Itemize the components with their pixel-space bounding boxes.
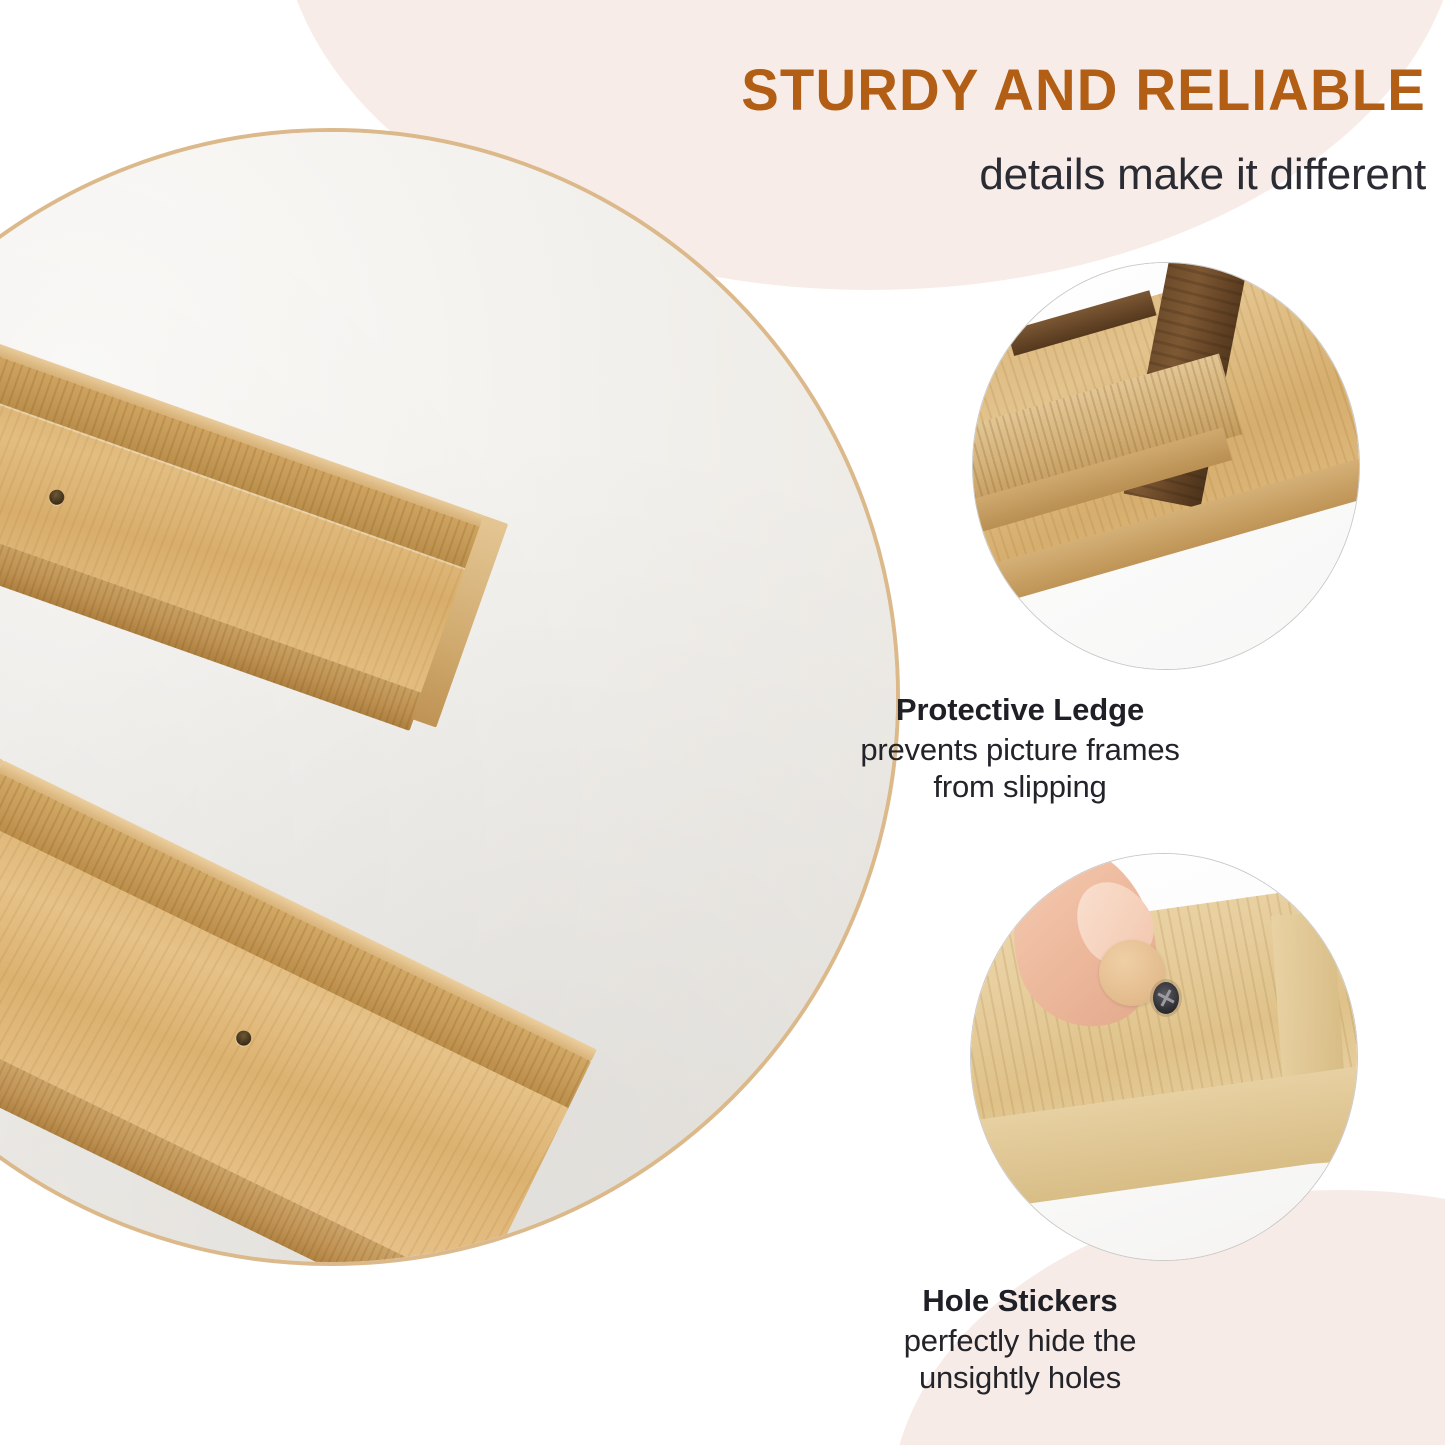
feature-title: Protective Ledge (660, 692, 1380, 729)
feature-line: from slipping (660, 768, 1380, 806)
feature-line: unsightly holes (660, 1359, 1380, 1397)
feature-caption-protective-ledge: Protective Ledge prevents picture frames… (660, 692, 1380, 806)
mounting-hole-icon (47, 488, 66, 507)
feature-image-hole-stickers (970, 853, 1358, 1261)
feature-image-protective-ledge (972, 262, 1360, 670)
hole-stickers-scene (971, 854, 1357, 1260)
page-title: STURDY AND RELIABLE (642, 62, 1426, 120)
screw-head-icon (1153, 982, 1179, 1014)
page-subtitle: details make it different (618, 152, 1426, 198)
feature-title: Hole Stickers (660, 1283, 1380, 1320)
mounting-hole-icon (234, 1028, 254, 1048)
protective-ledge-scene (973, 263, 1359, 669)
feature-caption-hole-stickers: Hole Stickers perfectly hide the unsight… (660, 1283, 1380, 1397)
infographic-canvas: STURDY AND RELIABLE details make it diff… (0, 0, 1445, 1445)
feature-line: prevents picture frames (660, 731, 1380, 769)
feature-line: perfectly hide the (660, 1322, 1380, 1360)
content-column: STURDY AND RELIABLE details make it diff… (600, 0, 1445, 1445)
